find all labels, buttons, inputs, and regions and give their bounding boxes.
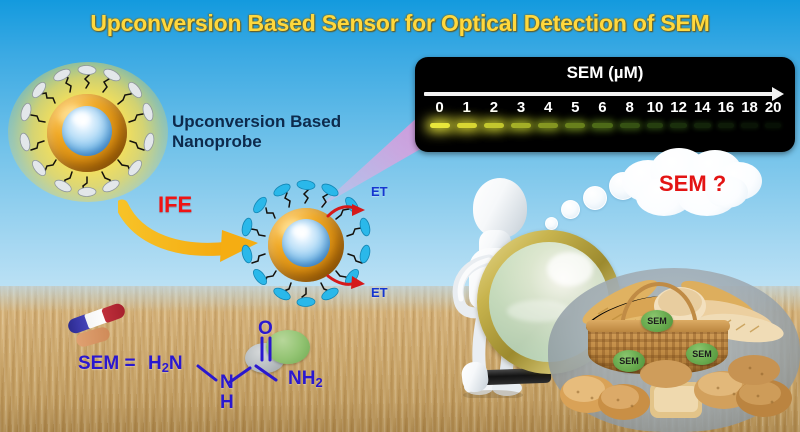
nanoprobe-label-line2: Nanoprobe [172,132,341,152]
luminescence-band-0 [430,123,450,128]
tick-label-1: 1 [453,99,480,116]
luminescence-band-14 [694,123,711,128]
surface-ligands-and-particles [8,62,168,202]
formula-prefix: SEM = [78,353,136,375]
tick-label-10: 10 [643,99,667,116]
tick-label-12: 12 [667,99,691,116]
luminescence-band-3 [511,123,531,128]
et-label-top: ET [371,184,388,199]
formula-bonds [140,310,320,410]
bread-loaves [558,352,794,428]
et-label-bottom: ET [371,285,388,300]
tick-label-6: 6 [589,99,616,116]
figure-head [473,178,527,238]
sem-tag: SEM [613,350,645,372]
nanoprobe-with-analyte [232,176,380,312]
sem-tag: SEM [641,310,673,332]
tick-label-18: 18 [738,99,762,116]
thought-text: SEM ? [659,171,726,197]
figure-canvas: Upconversion Based Sensor for Optical De… [0,0,800,432]
luminescence-band-1 [457,123,477,128]
luminescence-band-4 [538,123,558,128]
analyte-particles-and-ligands [232,176,380,312]
panel-title: SEM (µM) [415,63,795,83]
luminescence-band-20 [765,123,782,128]
tick-label-16: 16 [714,99,738,116]
luminescence-band-8 [620,123,640,128]
luminescence-band-18 [741,123,758,128]
sem-concentration-panel: SEM (µM) 01234568101214161820 [415,57,795,152]
tick-label-3: 3 [507,99,534,116]
luminescence-band-16 [718,123,735,128]
luminescence-band-5 [565,123,585,128]
nanoprobe-label: Upconversion Based Nanoprobe [172,112,341,152]
tick-label-20: 20 [761,99,785,116]
nanoprobe-upconversion [8,62,168,202]
tick-label-0: 0 [426,99,453,116]
luminescence-band-12 [670,123,687,128]
tick-label-14: 14 [690,99,714,116]
tick-label-8: 8 [616,99,643,116]
tick-label-4: 4 [535,99,562,116]
nanoprobe-label-line1: Upconversion Based [172,112,341,132]
tick-label-5: 5 [562,99,589,116]
concentration-axis-line [424,92,774,96]
tick-label-2: 2 [480,99,507,116]
luminescence-band-6 [592,123,612,128]
luminescence-band-2 [484,123,504,128]
page-title: Upconversion Based Sensor for Optical De… [0,10,800,37]
sem-tag: SEM [686,343,718,365]
luminescence-band-10 [647,123,664,128]
